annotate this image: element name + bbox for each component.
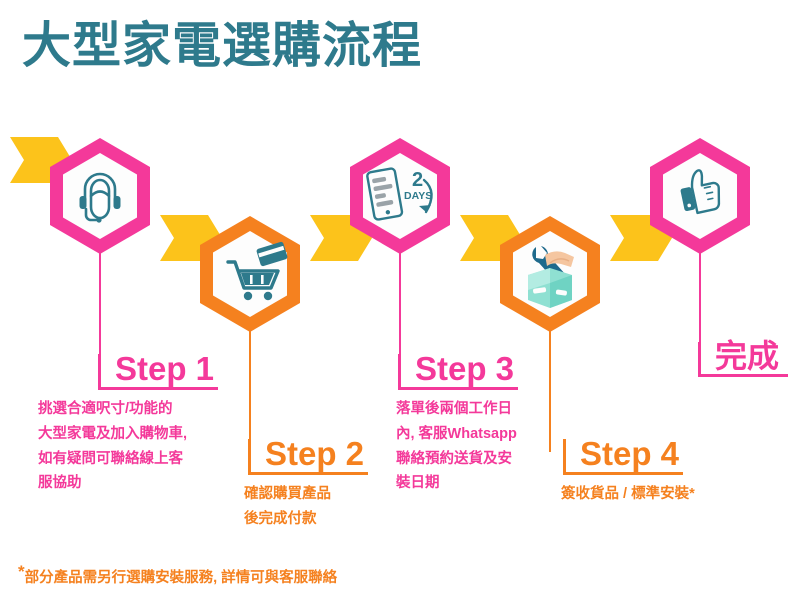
step-1-heading: Step 1: [98, 352, 283, 390]
footnote-asterisk: *: [18, 562, 25, 581]
step-5-bracket-vertical: [698, 342, 701, 377]
step-1-bracket-vertical: [98, 354, 101, 390]
step-block-5: 完成: [698, 340, 798, 377]
step-block-2: Step 2 確認購買產品 後完成付款: [248, 437, 403, 532]
step-2-heading: Step 2: [248, 437, 403, 475]
step-5-heading: 完成: [698, 340, 798, 377]
step-2-description: 確認購買產品 後完成付款: [244, 482, 394, 532]
step-1-bracket-horizontal: [98, 387, 218, 390]
step-3-heading: Step 3: [398, 352, 578, 390]
footnote-text: 部分產品需另行選購安裝服務, 詳情可與客服聯絡: [25, 570, 338, 586]
step-2-bracket-horizontal: [248, 472, 368, 475]
step-3-label: Step 3: [410, 352, 578, 387]
step-2-bracket-vertical: [248, 439, 251, 475]
step-2-label: Step 2: [260, 437, 403, 472]
wrench-box-installation-icon: [528, 246, 574, 308]
step-3-bracket-vertical: [398, 354, 401, 390]
step-5-bracket-horizontal: [698, 374, 788, 377]
infographic-canvas: 大型家電選購流程: [0, 0, 800, 600]
step-1-label: Step 1: [110, 352, 283, 387]
step-3-bracket-horizontal: [398, 387, 518, 390]
step-4-bracket-horizontal: [563, 472, 683, 475]
step-block-4: Step 4 簽收貨品 / 標準安裝*: [563, 437, 788, 507]
step-4-bracket-vertical: [563, 439, 566, 475]
step-1-description: 挑選合適呎寸/功能的 大型家電及加入購物車, 如有疑問可聯絡線上客 服協助: [38, 397, 238, 497]
step-4-heading: Step 4: [563, 437, 788, 475]
step-4-label: Step 4: [575, 437, 788, 472]
step-block-3: Step 3 落單後兩個工作日 內, 客服Whatsapp 聯絡預約送貨及安 裝…: [398, 352, 578, 496]
step-3-description: 落單後兩個工作日 內, 客服Whatsapp 聯絡預約送貨及安 裝日期: [396, 397, 561, 497]
step-4-description: 簽收貨品 / 標準安裝*: [561, 482, 781, 507]
step-5-label: 完成: [710, 340, 798, 374]
two-days-number: 2: [412, 169, 423, 191]
two-days-unit: DAYS: [404, 190, 432, 202]
footnote: *部分產品需另行選購安裝服務, 詳情可與客服聯絡: [18, 562, 337, 587]
